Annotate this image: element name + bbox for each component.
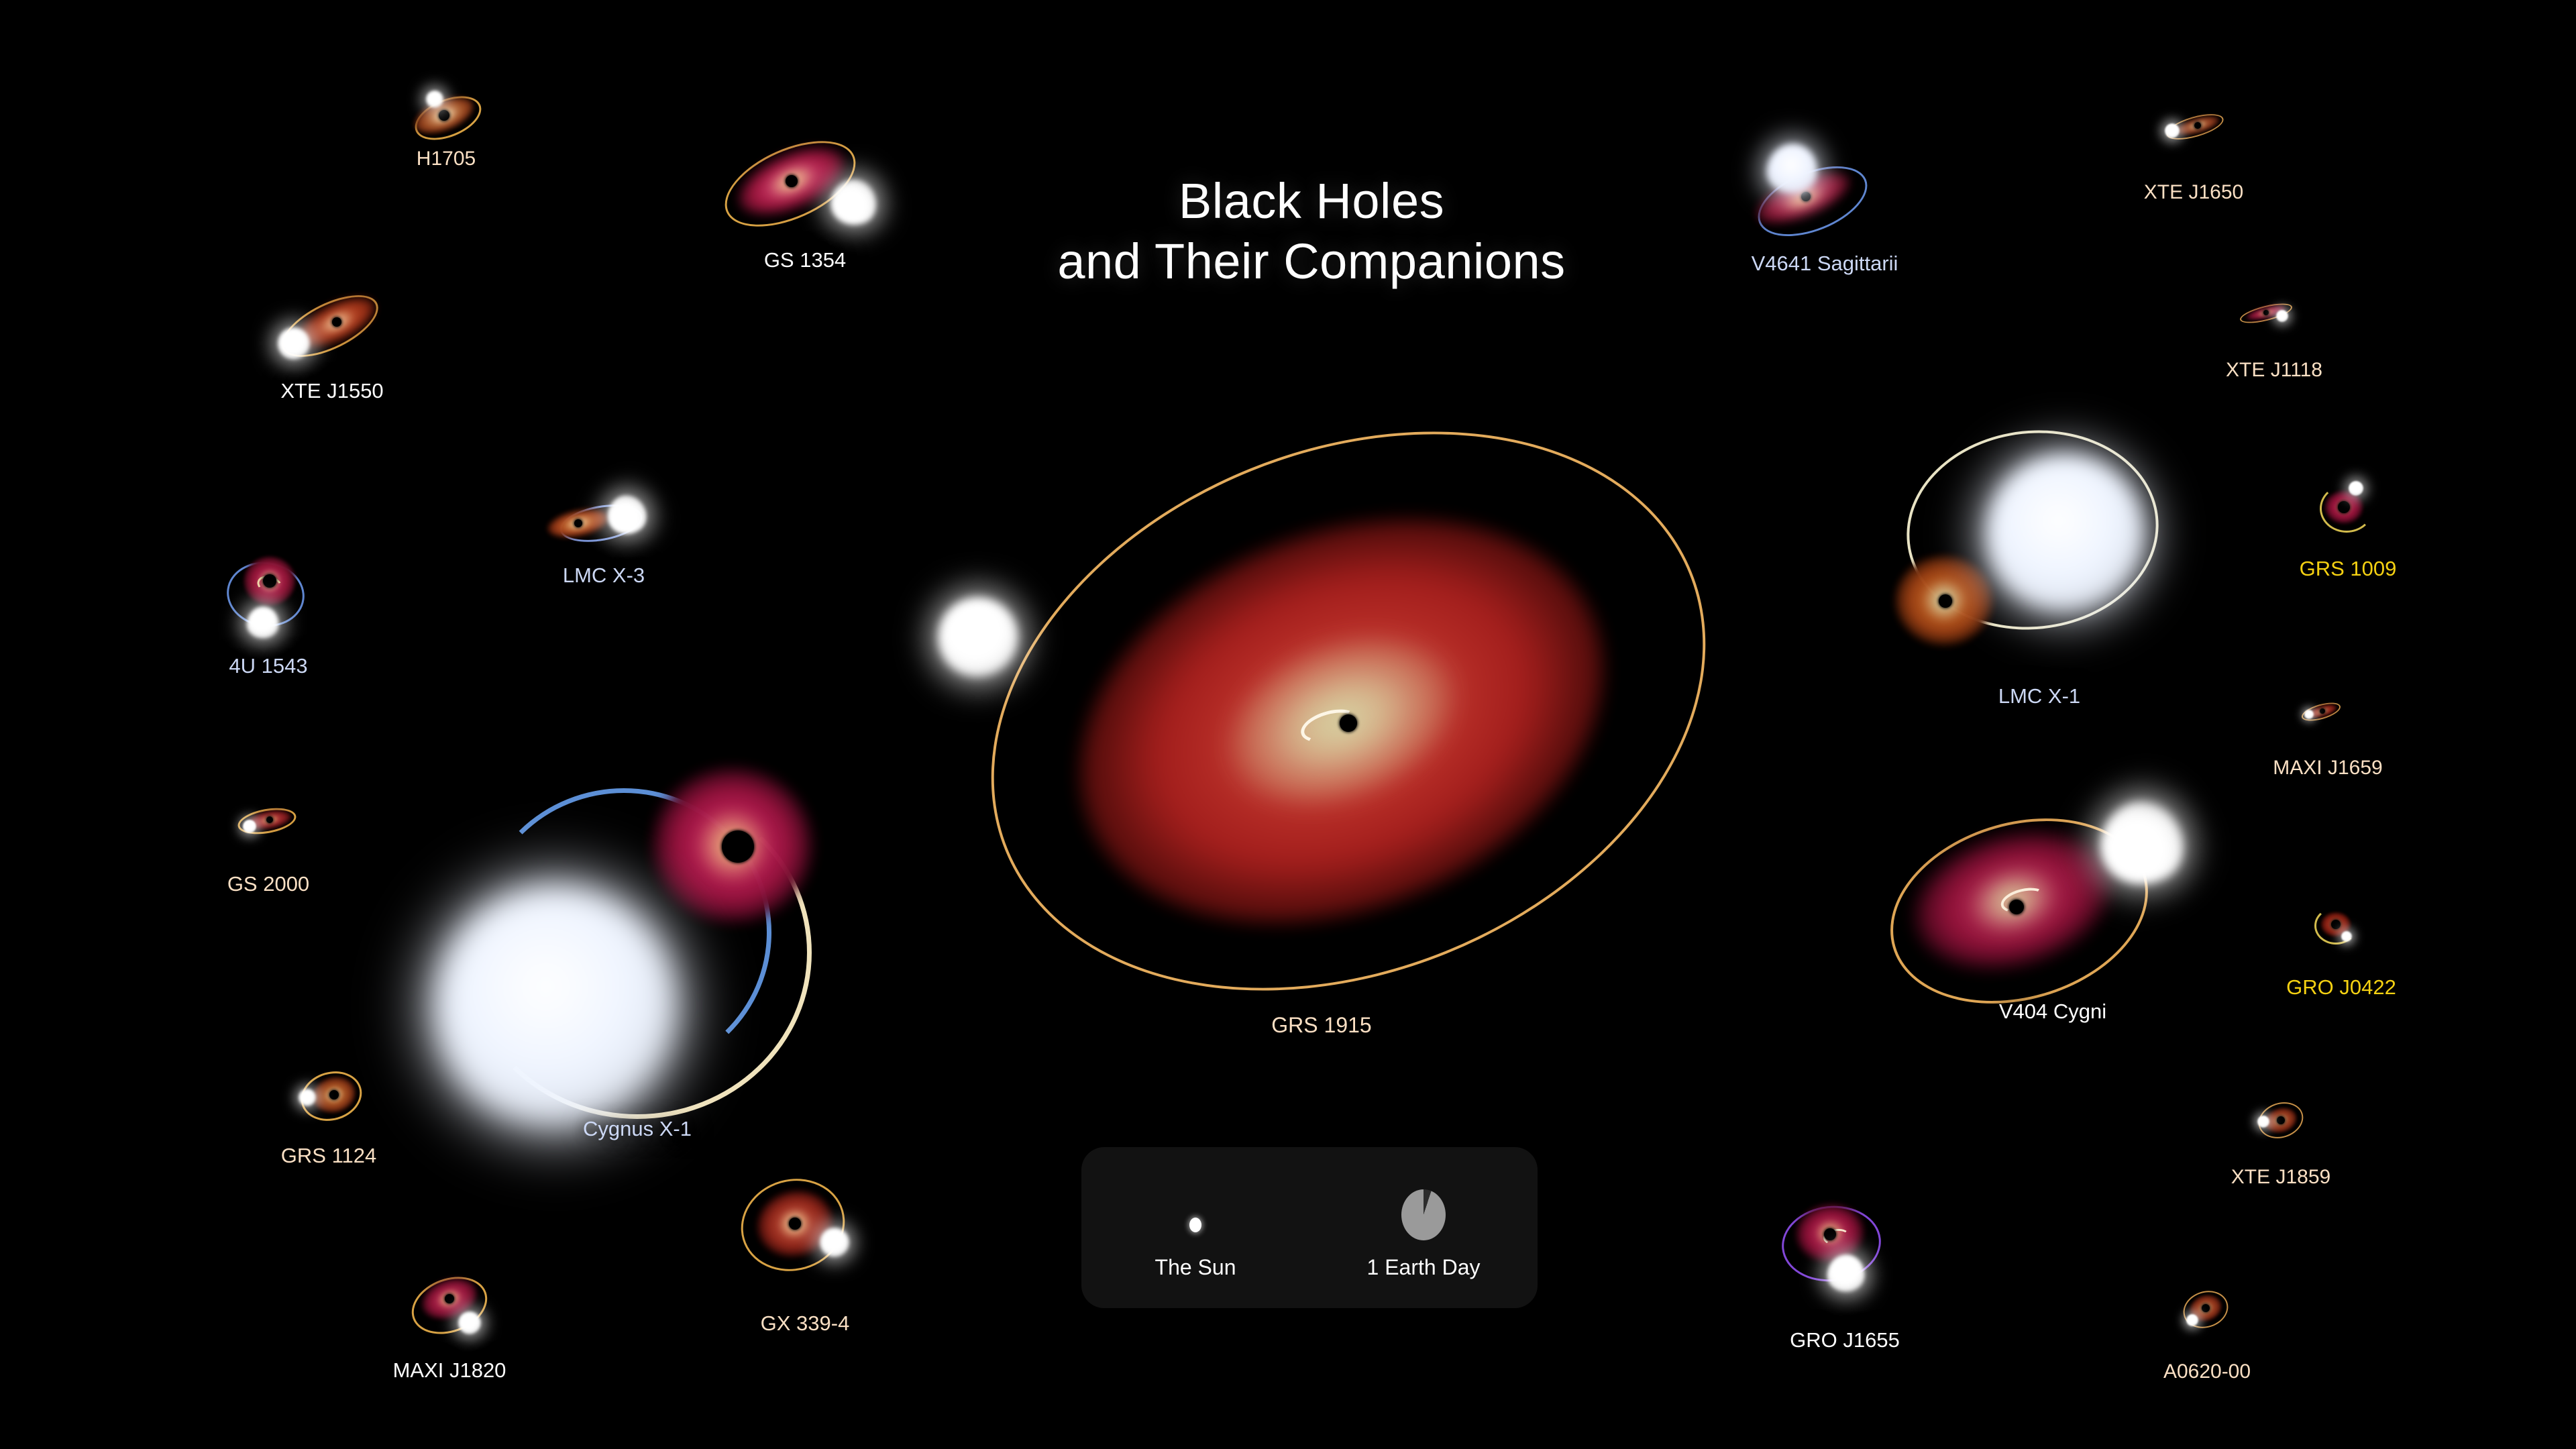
page-title: Black Holes and Their Companions [1026,171,1597,292]
system-artwork [718,1167,892,1328]
system-label: XTE J1550 [280,379,383,403]
system-label: 4U 1543 [229,654,307,678]
system-label: GRO J1655 [1790,1328,1900,1352]
companion-star [2341,931,2352,942]
companion-star [278,327,310,360]
system-grs-1009: GRS 1009 [2281,470,2415,590]
companion-star [938,597,1018,678]
system-label: GS 2000 [227,872,309,896]
legend-item-earth-day: 1 Earth Day [1309,1147,1538,1308]
black-hole [332,317,341,327]
companion-star [2276,310,2288,322]
black-hole [2331,920,2341,929]
system-maxi-j1820: MAXI J1820 [376,1261,523,1382]
system-artwork [423,731,852,1147]
earth-day-pie-icon [1401,1160,1446,1240]
black-hole [786,175,798,187]
system-v404-cygni: V404 Cygni [1892,778,2214,1046]
system-lmc-x-1: LMC X-1 [1872,406,2207,721]
system-v4641-sagittarii: V4641 Sagittarii [1731,127,1919,282]
black-hole [722,830,754,863]
black-hole [789,1218,801,1230]
black-hole [2263,310,2269,315]
legend-panel: The Sun 1 Earth Day [1081,1147,1538,1308]
system-label: MAXI J1659 [2273,757,2382,780]
system-label: XTE J1118 [2226,359,2322,382]
black-hole [2320,708,2325,714]
black-hole [2338,501,2350,513]
black-hole [2009,900,2024,914]
black-hole [329,1090,339,1099]
companion-star [458,1311,481,1334]
system-xte-j1859: XTE J1859 [2214,1080,2348,1187]
companion-star [1986,454,2144,612]
black-hole [2277,1116,2285,1124]
system-xte-j1650: XTE J1650 [2133,97,2254,198]
black-hole [266,816,273,823]
companion-star [433,884,678,1128]
system-label: V404 Cygni [1999,1000,2106,1024]
system-artwork [255,282,409,389]
system-label: XTE J1650 [2144,181,2243,204]
system-artwork [711,134,899,255]
black-hole [1824,1228,1836,1240]
companion-star [820,1228,849,1257]
legend-item-sun: The Sun [1081,1147,1309,1308]
system-gs-1354: GS 1354 [711,134,899,255]
black-hole [263,574,276,588]
legend-label-earth-day: 1 Earth Day [1367,1255,1481,1280]
system-label: H1705 [417,148,476,170]
system-label: GRS 1124 [281,1144,376,1168]
system-xte-j1550: XTE J1550 [255,282,409,389]
system-label: LMC X-3 [563,563,645,588]
companion-star [2349,481,2363,496]
system-4u-1543: 4U 1543 [208,537,329,671]
system-grs-1124: GRS 1124 [268,1053,389,1161]
black-hole [2194,122,2201,129]
sun-scale-icon [1189,1160,1201,1240]
system-artwork [879,463,1764,1067]
black-hole [2202,1304,2210,1312]
system-artwork [537,470,671,577]
system-gx-339-4: GX 339-4 [718,1167,892,1328]
system-lmc-x-3: LMC X-3 [537,470,671,577]
companion-star [2304,710,2314,719]
black-hole [574,519,582,527]
system-gro-j0422: GRO J0422 [2274,892,2408,1000]
companion-star [2165,123,2180,138]
companion-star [299,1089,316,1106]
system-label: GRO J0422 [2286,975,2396,1000]
system-label: LMC X-1 [1998,684,2080,708]
system-artwork [208,537,329,671]
system-label: A0620-00 [2163,1360,2251,1383]
system-artwork [215,792,322,885]
system-gs-2000: GS 2000 [215,792,322,885]
system-grs-1915: GRS 1915 [879,463,1764,1067]
black-hole [1340,714,1357,732]
system-label: GS 1354 [764,248,846,272]
system-a0620-00: A0620-00 [2140,1275,2274,1382]
system-label: XTE J1859 [2231,1166,2330,1189]
system-label: MAXI J1820 [393,1358,506,1383]
system-artwork [1872,406,2207,721]
system-label: Cygnus X-1 [583,1117,692,1141]
system-label: GRS 1009 [2300,557,2397,581]
black-hole [439,110,449,121]
system-xte-j1118: XTE J1118 [2214,282,2334,376]
legend-label-sun: The Sun [1155,1255,1236,1280]
black-hole [1939,594,1952,608]
infographic-canvas: Black Holes and Their Companions H1705GS… [0,0,2576,1449]
companion-star [2257,1116,2269,1128]
companion-star [2186,1314,2198,1326]
system-cygnus-x-1: Cygnus X-1 [423,731,852,1147]
black-hole [445,1294,454,1303]
system-maxi-j1659: MAXI J1659 [2261,684,2395,778]
companion-star [426,91,443,108]
companion-star [243,820,256,833]
system-h1705: H1705 [396,74,496,161]
system-label: V4641 Sagittarii [1752,252,1898,276]
system-label: GRS 1915 [1271,1013,1371,1038]
system-label: GX 339-4 [761,1311,850,1336]
system-gro-j1655: GRO J1655 [1751,1187,1939,1362]
